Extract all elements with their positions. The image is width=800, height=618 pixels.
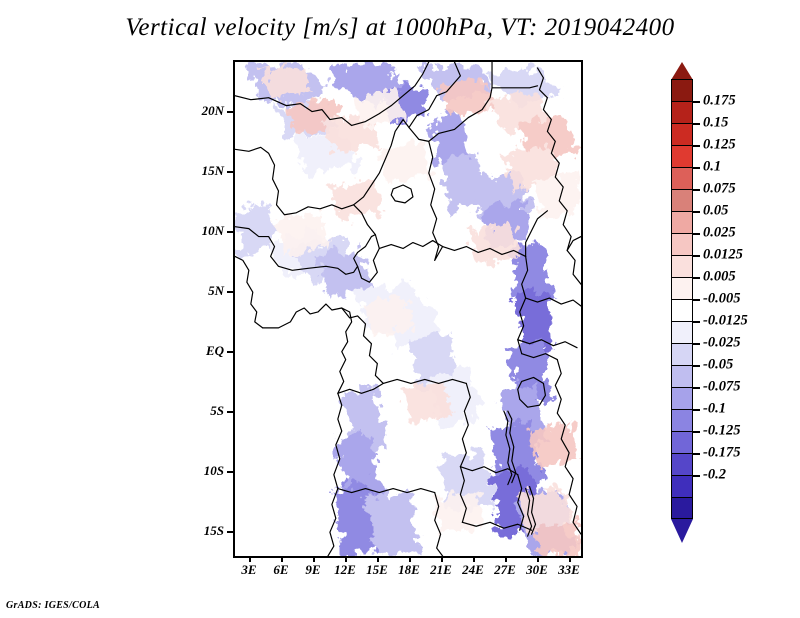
- colorbar-tick: [693, 189, 700, 191]
- colorbar-swatch: [671, 343, 693, 365]
- grads-credit: GrADS: IGES/COLA: [6, 600, 100, 611]
- x-tick-label: 33E: [558, 562, 580, 578]
- colorbar-swatch: [671, 365, 693, 387]
- colorbar-tick: [693, 123, 700, 125]
- colorbar-swatch: [671, 431, 693, 453]
- colorbar-tick-label: -0.005: [703, 291, 740, 308]
- colorbar-extend-min-arrow: [671, 519, 693, 543]
- colorbar-tick: [693, 431, 700, 433]
- colorbar-tick: [693, 475, 700, 477]
- colorbar-tick: [693, 255, 700, 257]
- colorbar-swatch: [671, 189, 693, 211]
- colorbar-swatch: [671, 79, 693, 101]
- x-tick-label: 30E: [526, 562, 548, 578]
- colorbar-tick: [693, 387, 700, 389]
- colorbar-tick-label: -0.05: [703, 357, 733, 374]
- colorbar-tick-label: -0.125: [703, 423, 740, 440]
- colorbar-swatch: [671, 387, 693, 409]
- colorbar-swatch: [671, 409, 693, 431]
- colorbar-tick-label: -0.075: [703, 379, 740, 396]
- colorbar-tick: [693, 321, 700, 323]
- colorbar-tick: [693, 145, 700, 147]
- colorbar-swatch: [671, 255, 693, 277]
- colorbar-tick: [693, 277, 700, 279]
- colorbar-tick-label: -0.2: [703, 467, 726, 484]
- colorbar-swatch: [671, 123, 693, 145]
- y-tick-label: EQ: [206, 343, 224, 359]
- colorbar-tick-label: 0.05: [703, 203, 728, 220]
- colorbar-tick: [693, 211, 700, 213]
- y-tick-label: 10N: [202, 223, 224, 239]
- colorbar-tick-label: 0.15: [703, 115, 728, 132]
- colorbar-tick-label: 0.0125: [703, 247, 743, 264]
- colorbar-swatch: [671, 453, 693, 475]
- vertical-velocity-field: [235, 62, 581, 556]
- y-tick-label: 5S: [210, 403, 224, 419]
- colorbar-swatch: [671, 321, 693, 343]
- colorbar-tick: [693, 167, 700, 169]
- colorbar-tick-label: 0.005: [703, 269, 736, 286]
- map-plot-area: [233, 60, 583, 558]
- colorbar-swatch: [671, 233, 693, 255]
- colorbar-tick-label: -0.175: [703, 445, 740, 462]
- y-tick-label: 5N: [208, 283, 224, 299]
- colorbar-tick-label: 0.1: [703, 159, 721, 176]
- colorbar-tick-label: -0.0125: [703, 313, 748, 330]
- colorbar-extend-max-arrow: [671, 62, 693, 80]
- colorbar-tick-label: 0.175: [703, 93, 736, 110]
- colorbar-swatch: [671, 101, 693, 123]
- colorbar-tick: [693, 365, 700, 367]
- x-tick-label: 15E: [366, 562, 388, 578]
- x-tick-label: 12E: [334, 562, 356, 578]
- colorbar-tick: [693, 299, 700, 301]
- colorbar-tick: [693, 233, 700, 235]
- colorbar-swatch: [671, 277, 693, 299]
- colorbar-tick: [693, 343, 700, 345]
- y-tick-label: 15S: [204, 523, 224, 539]
- x-tick-label: 3E: [241, 562, 256, 578]
- x-tick-label: 24E: [462, 562, 484, 578]
- x-tick-label: 18E: [398, 562, 420, 578]
- colorbar-tick-label: -0.1: [703, 401, 726, 418]
- y-tick-label: 10S: [204, 463, 224, 479]
- x-tick-label: 9E: [305, 562, 320, 578]
- colorbar-swatch: [671, 145, 693, 167]
- colorbar-tick-label: 0.125: [703, 137, 736, 154]
- colorbar-swatch: [671, 475, 693, 497]
- y-tick-label: 15N: [202, 163, 224, 179]
- colorbar-tick: [693, 453, 700, 455]
- colorbar-tick-label: 0.025: [703, 225, 736, 242]
- colorbar-swatch: [671, 211, 693, 233]
- colorbar-swatch: [671, 299, 693, 321]
- colorbar-tick-label: 0.075: [703, 181, 736, 198]
- colorbar-swatch: [671, 167, 693, 189]
- colorbar-swatches: [671, 79, 693, 519]
- page-title: Vertical velocity [m/s] at 1000hPa, VT: …: [0, 14, 800, 42]
- x-tick-label: 21E: [430, 562, 452, 578]
- colorbar-tick: [693, 101, 700, 103]
- y-tick-label: 20N: [202, 103, 224, 119]
- x-tick-label: 6E: [273, 562, 288, 578]
- colorbar-swatch: [671, 497, 693, 519]
- colorbar-tick: [693, 409, 700, 411]
- x-tick-label: 27E: [494, 562, 516, 578]
- colorbar-tick-label: -0.025: [703, 335, 740, 352]
